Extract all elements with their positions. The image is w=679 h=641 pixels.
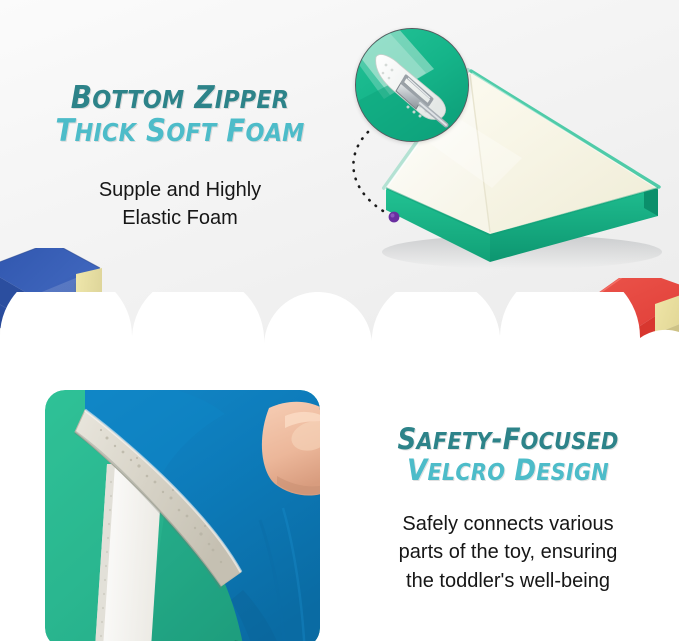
blue-foam-block: [0, 248, 122, 360]
top-body-text: Supple and Highly Elastic Foam: [32, 176, 328, 233]
bottom-body-line-3: the toddler's well-being: [340, 567, 676, 595]
top-heading-line-2: THICK SOFT FOAM: [24, 115, 336, 148]
top-heading-block: BOTTOM ZIPPER THICK SOFT FOAM: [24, 82, 336, 148]
zipper-closeup-callout: [355, 28, 469, 142]
bottom-body-line-1: Safely connects various: [340, 510, 676, 538]
red-foam-wedge: [505, 278, 679, 382]
bottom-heading-line-2: VELCRO DESIGN: [348, 455, 668, 486]
callout-leader-line: [340, 128, 470, 238]
top-heading-line-1: BOTTOM ZIPPER: [24, 82, 336, 115]
bottom-heading-line-1: SAFETY-FOCUSED: [348, 424, 668, 455]
velcro-closeup-photo: [45, 390, 320, 641]
top-body-line-1: Supple and Highly: [32, 176, 328, 204]
bottom-heading-block: SAFETY-FOCUSED VELCRO DESIGN: [348, 424, 668, 485]
infographic-canvas: BOTTOM ZIPPER THICK SOFT FOAM Supple and…: [0, 0, 679, 641]
bottom-body-line-2: parts of the toy, ensuring: [340, 538, 676, 566]
bottom-body-text: Safely connects various parts of the toy…: [340, 510, 676, 595]
top-body-line-2: Elastic Foam: [32, 204, 328, 232]
